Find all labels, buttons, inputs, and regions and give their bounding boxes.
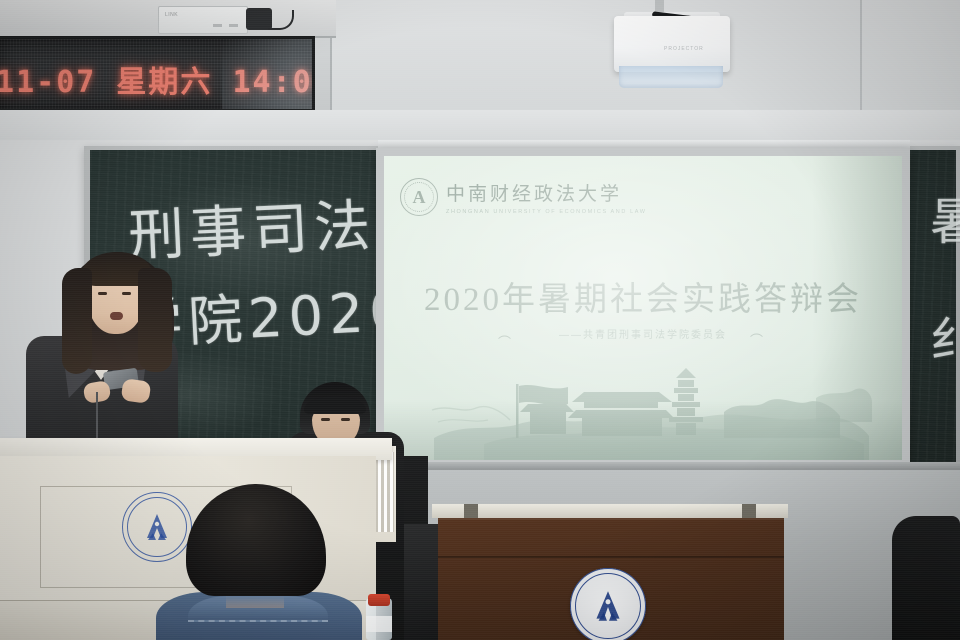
foreground-jacket-collar <box>188 596 328 622</box>
projector-lens <box>619 66 723 88</box>
chalk-text-right-1: 暑 <box>930 182 960 254</box>
wooden-lectern-top <box>432 504 788 518</box>
water-bottle-label <box>366 616 392 632</box>
speaker-hair-right-side <box>138 268 172 372</box>
network-router: LINK <box>158 6 248 34</box>
microphone-stand <box>96 392 98 444</box>
chalk-text-line-1: 刑事司法 <box>126 181 377 273</box>
led-clock-display: -11-07 星期六 14:04 <box>0 36 315 112</box>
lectern-notch-left <box>464 504 478 518</box>
lectern-panel-seam <box>438 556 784 558</box>
standing-figure-silhouette-2 <box>404 524 438 640</box>
ceiling-projector: PROJECTOR <box>614 16 730 72</box>
water-bottle-cap <box>368 594 390 606</box>
screen-edge-shading-bottom <box>384 400 902 460</box>
lectern-notch-right <box>742 504 756 518</box>
university-emblem-lectern <box>570 568 646 640</box>
classroom-photo-scene: LINK -11-07 星期六 14:04 PROJECTOR 刑事司法 学院2… <box>0 0 960 640</box>
right-edge-figure-silhouette <box>892 516 960 640</box>
university-emblem-podium <box>122 492 192 562</box>
led-glare <box>222 39 312 109</box>
projector-brand-label: PROJECTOR <box>664 46 704 52</box>
projection-screen: A 中南财经政法大学 ZHONGNAN UNIVERSITY OF ECONOM… <box>384 156 902 460</box>
ceiling-seam-line-right <box>860 0 862 118</box>
speaker-hair-left-side <box>62 268 92 374</box>
router-label: LINK <box>165 12 178 18</box>
speaker-right-hand <box>121 378 152 404</box>
chalk-text-right-2: 纟 <box>930 300 960 370</box>
